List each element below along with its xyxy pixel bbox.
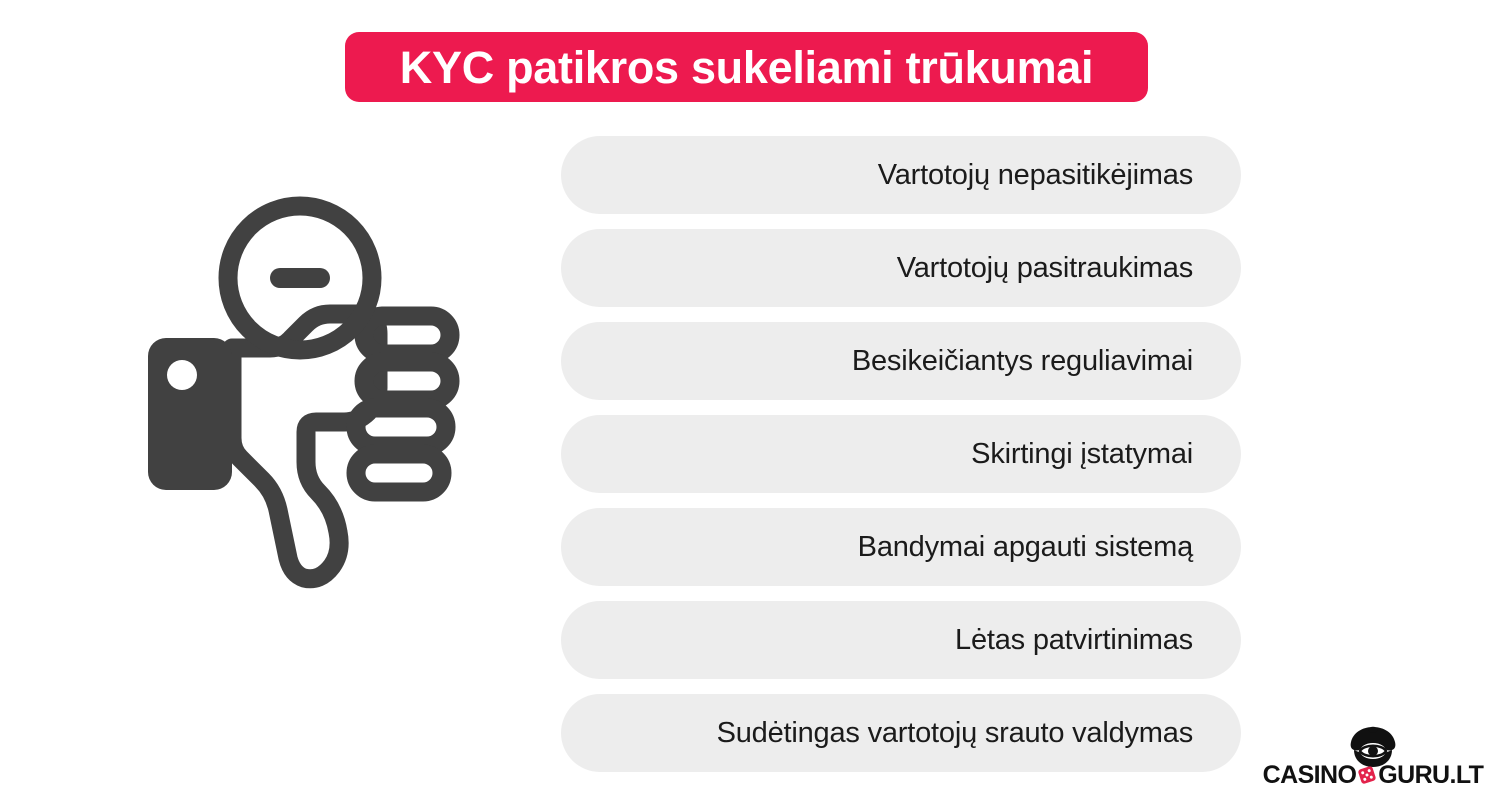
list-item-label: Besikeičiantys reguliavimai xyxy=(852,345,1193,378)
list-item: Vartotojų pasitraukimas xyxy=(561,229,1241,307)
list-item-label: Vartotojų pasitraukimas xyxy=(897,252,1193,285)
list-item-label: Lėtas patvirtinimas xyxy=(955,624,1193,657)
list-item: Bandymai apgauti sistemą xyxy=(561,508,1241,586)
sleeve-cuff xyxy=(148,338,232,490)
list-item-label: Skirtingi įstatymai xyxy=(971,438,1193,471)
logo-wordmark: CASINO GURU.LT xyxy=(1266,762,1480,788)
logo-word-casino: CASINO xyxy=(1263,763,1357,788)
infographic-canvas: KYC patikros sukeliami trūkumai xyxy=(0,0,1500,800)
dice-icon xyxy=(1357,765,1377,785)
list-item: Lėtas patvirtinimas xyxy=(561,601,1241,679)
list-item-label: Vartotojų nepasitikėjimas xyxy=(878,159,1193,192)
list-item: Skirtingi įstatymai xyxy=(561,415,1241,493)
logo-word-guru: GURU.LT xyxy=(1378,763,1483,788)
list-item-label: Sudėtingas vartotojų srauto valdymas xyxy=(717,717,1193,750)
drawbacks-list: Vartotojų nepasitikėjimas Vartotojų pasi… xyxy=(561,136,1241,772)
casino-guru-logo: CASINO GURU.LT xyxy=(1266,726,1480,788)
thumbs-down-icon xyxy=(120,180,500,620)
list-item-label: Bandymai apgauti sistemą xyxy=(858,531,1193,564)
thumbs-down-illustration xyxy=(120,180,500,620)
title-banner: KYC patikros sukeliami trūkumai xyxy=(345,32,1148,102)
list-item: Besikeičiantys reguliavimai xyxy=(561,322,1241,400)
sleeve-button xyxy=(167,360,197,390)
page-title: KYC patikros sukeliami trūkumai xyxy=(400,45,1093,90)
list-item: Sudėtingas vartotojų srauto valdymas xyxy=(561,694,1241,772)
minus-icon xyxy=(270,268,330,288)
list-item: Vartotojų nepasitikėjimas xyxy=(561,136,1241,214)
